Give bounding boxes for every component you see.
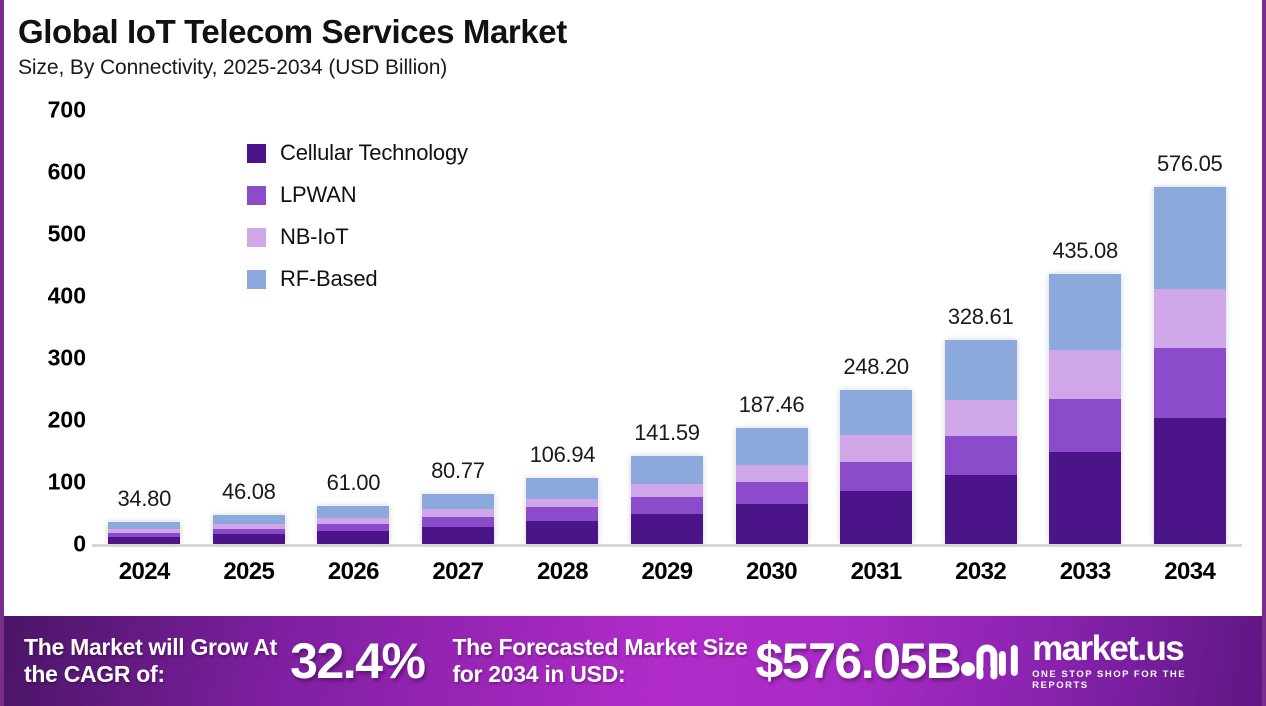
bar-segment[interactable] bbox=[108, 522, 180, 529]
bar-value-label: 106.94 bbox=[530, 442, 596, 468]
x-axis-tick: 2033 bbox=[1033, 558, 1138, 598]
cagr-value: 32.4% bbox=[290, 632, 424, 690]
bar-column[interactable]: 187.46 bbox=[719, 110, 824, 544]
market-us-bars-icon bbox=[960, 639, 1022, 683]
bar-segment[interactable] bbox=[840, 462, 912, 491]
stacked-bar[interactable] bbox=[1154, 187, 1226, 544]
x-axis-tick: 2026 bbox=[301, 558, 406, 598]
bar-value-label: 61.00 bbox=[327, 470, 381, 496]
bar-segment[interactable] bbox=[1049, 274, 1121, 350]
x-axis-tick: 2032 bbox=[928, 558, 1033, 598]
y-axis-tick: 0 bbox=[4, 531, 92, 558]
y-axis-tick: 400 bbox=[4, 283, 92, 310]
x-axis-tick: 2028 bbox=[510, 558, 615, 598]
bar-segment[interactable] bbox=[213, 515, 285, 524]
bar-column[interactable]: 248.20 bbox=[824, 110, 929, 544]
bar-segment[interactable] bbox=[1154, 187, 1226, 289]
bar-segment[interactable] bbox=[108, 537, 180, 544]
bar-segment[interactable] bbox=[526, 478, 598, 499]
bar-value-label: 248.20 bbox=[843, 354, 909, 380]
bar-segment[interactable] bbox=[945, 400, 1017, 436]
logo-text: market.us ONE STOP SHOP FOR THE REPORTS bbox=[1032, 631, 1246, 691]
stacked-bar[interactable] bbox=[631, 456, 703, 544]
chart-plot-area: 7006005004003002001000 Cellular Technolo… bbox=[4, 110, 1262, 605]
y-axis-tick: 500 bbox=[4, 221, 92, 248]
bar-segment[interactable] bbox=[317, 524, 389, 531]
bar-segment[interactable] bbox=[317, 506, 389, 517]
bar-segment[interactable] bbox=[840, 491, 912, 544]
bar-value-label: 187.46 bbox=[739, 392, 805, 418]
stacked-bar[interactable] bbox=[1049, 274, 1121, 544]
bar-segment[interactable] bbox=[317, 531, 389, 544]
bar-segment[interactable] bbox=[631, 484, 703, 497]
bar-value-label: 34.80 bbox=[117, 486, 171, 512]
y-axis-tick: 300 bbox=[4, 345, 92, 372]
stacked-bar[interactable] bbox=[526, 478, 598, 544]
logo-tagline: ONE STOP SHOP FOR THE REPORTS bbox=[1032, 669, 1246, 691]
y-axis-tick: 700 bbox=[4, 97, 92, 124]
bar-segment[interactable] bbox=[526, 521, 598, 544]
bar-segment[interactable] bbox=[736, 504, 808, 544]
bar-column[interactable]: 34.80 bbox=[92, 110, 197, 544]
y-axis-tick: 600 bbox=[4, 159, 92, 186]
bar-segment[interactable] bbox=[1049, 350, 1121, 399]
bar-segment[interactable] bbox=[1154, 348, 1226, 418]
bar-value-label: 576.05 bbox=[1157, 151, 1223, 177]
stacked-bar[interactable] bbox=[108, 522, 180, 544]
x-axis-tick: 2031 bbox=[824, 558, 929, 598]
bar-segment[interactable] bbox=[945, 436, 1017, 475]
stacked-bar[interactable] bbox=[736, 428, 808, 544]
bar-value-label: 435.08 bbox=[1052, 238, 1118, 264]
bar-segment[interactable] bbox=[631, 497, 703, 514]
stacked-bar[interactable] bbox=[422, 494, 494, 544]
stacked-bar[interactable] bbox=[213, 515, 285, 544]
bar-value-label: 328.61 bbox=[948, 304, 1014, 330]
bar-column[interactable]: 46.08 bbox=[197, 110, 302, 544]
forecast-caption: The Forecasted Market Size for 2034 in U… bbox=[452, 634, 751, 688]
bar-segment[interactable] bbox=[631, 514, 703, 544]
bar-segment[interactable] bbox=[526, 507, 598, 521]
bar-segment[interactable] bbox=[422, 527, 494, 544]
y-axis-tick: 200 bbox=[4, 407, 92, 434]
cagr-caption: The Market will Grow At the CAGR of: bbox=[24, 634, 288, 688]
bar-segment[interactable] bbox=[526, 499, 598, 508]
bar-column[interactable]: 106.94 bbox=[510, 110, 615, 544]
stacked-bar[interactable] bbox=[317, 506, 389, 544]
bar-segment[interactable] bbox=[213, 534, 285, 544]
bar-value-label: 46.08 bbox=[222, 479, 276, 505]
bar-segment[interactable] bbox=[1049, 399, 1121, 452]
bar-segment[interactable] bbox=[1049, 452, 1121, 544]
page-title: Global IoT Telecom Services Market bbox=[18, 14, 1252, 51]
bar-segment[interactable] bbox=[736, 482, 808, 504]
x-axis-tick: 2027 bbox=[406, 558, 511, 598]
chart-subtitle: Size, By Connectivity, 2025-2034 (USD Bi… bbox=[18, 56, 1252, 80]
axis-baseline bbox=[92, 544, 1242, 547]
bar-segment[interactable] bbox=[631, 456, 703, 484]
logo-name: market.us bbox=[1032, 631, 1246, 666]
bar-segment[interactable] bbox=[422, 517, 494, 527]
bar-group: 34.8046.0861.0080.77106.94141.59187.4624… bbox=[92, 110, 1242, 544]
bar-column[interactable]: 328.61 bbox=[928, 110, 1033, 544]
y-axis-tick: 100 bbox=[4, 469, 92, 496]
bar-segment[interactable] bbox=[840, 435, 912, 462]
x-axis-tick: 2030 bbox=[719, 558, 824, 598]
bar-segment[interactable] bbox=[1154, 418, 1226, 544]
infographic-frame: Global IoT Telecom Services Market Size,… bbox=[0, 0, 1266, 706]
stacked-bar[interactable] bbox=[840, 390, 912, 544]
bar-segment[interactable] bbox=[945, 475, 1017, 544]
footer-banner: The Market will Grow At the CAGR of: 32.… bbox=[4, 616, 1262, 706]
x-axis-tick: 2034 bbox=[1137, 558, 1242, 598]
bar-segment[interactable] bbox=[840, 390, 912, 435]
bar-value-label: 141.59 bbox=[634, 420, 700, 446]
bar-segment[interactable] bbox=[422, 509, 494, 517]
bar-column[interactable]: 576.05 bbox=[1137, 110, 1242, 544]
bar-segment[interactable] bbox=[1154, 289, 1226, 348]
stacked-bar[interactable] bbox=[945, 340, 1017, 544]
bar-segment[interactable] bbox=[422, 494, 494, 509]
forecast-value: $576.05B bbox=[755, 632, 960, 690]
bar-column[interactable]: 435.08 bbox=[1033, 110, 1138, 544]
y-axis: 7006005004003002001000 bbox=[4, 110, 92, 545]
bar-segment[interactable] bbox=[736, 465, 808, 482]
x-axis: 2024202520262027202820292030203120322033… bbox=[92, 558, 1242, 598]
x-axis-tick: 2029 bbox=[615, 558, 720, 598]
bar-value-label: 80.77 bbox=[431, 458, 485, 484]
bar-column[interactable]: 141.59 bbox=[615, 110, 720, 544]
chart-header: Global IoT Telecom Services Market Size,… bbox=[18, 14, 1252, 80]
bar-segment[interactable] bbox=[736, 428, 808, 465]
x-axis-tick: 2024 bbox=[92, 558, 197, 598]
market-us-logo[interactable]: market.us ONE STOP SHOP FOR THE REPORTS bbox=[960, 631, 1246, 691]
bar-column[interactable]: 61.00 bbox=[301, 110, 406, 544]
bar-segment[interactable] bbox=[945, 340, 1017, 399]
bar-column[interactable]: 80.77 bbox=[406, 110, 511, 544]
x-axis-tick: 2025 bbox=[197, 558, 302, 598]
